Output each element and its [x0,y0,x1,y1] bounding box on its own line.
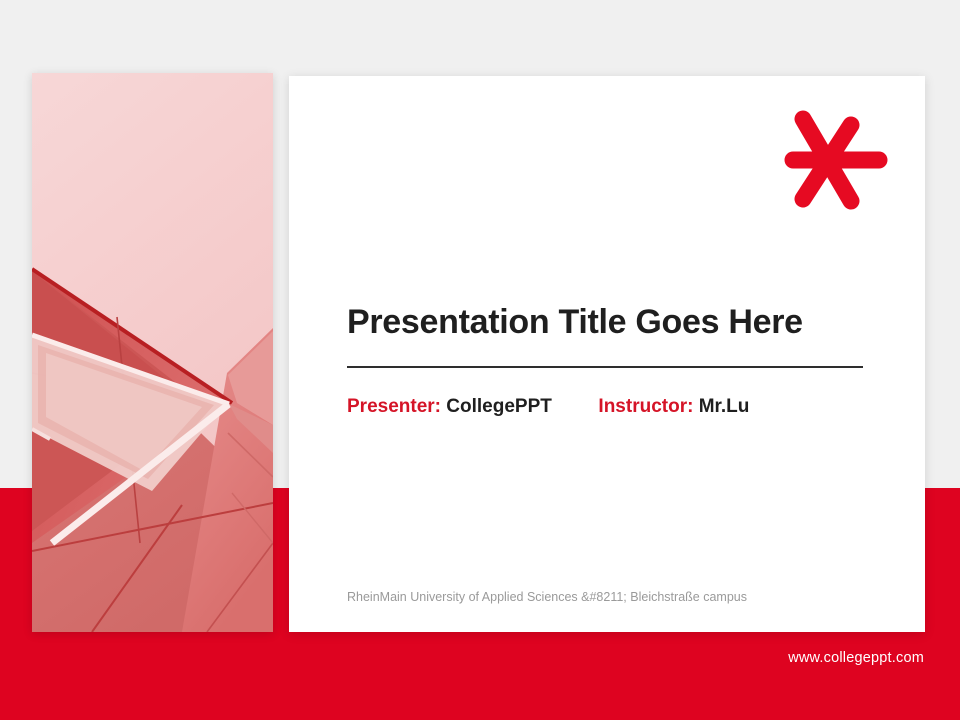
photo-panel [32,73,273,632]
presenter-name: CollegePPT [446,396,552,417]
instructor-label: Instructor: [598,396,693,417]
instructor-name: Mr.Lu [699,396,750,417]
site-url-text: www.collegeppt.com [788,650,924,666]
red-asterisk-logo [781,103,891,215]
byline-row: Presenter: CollegePPT Instructor: Mr.Lu [347,396,877,418]
architectural-red-panels-photo [32,73,273,632]
footer-affiliation-note: RheinMain University of Applied Sciences… [347,590,887,604]
slide-canvas: www.collegeppt.com [0,0,960,720]
title-divider [347,366,863,368]
presenter-label: Presenter: [347,396,441,417]
page-title: Presentation Title Goes Here [347,303,877,342]
asterisk-icon [781,103,891,215]
